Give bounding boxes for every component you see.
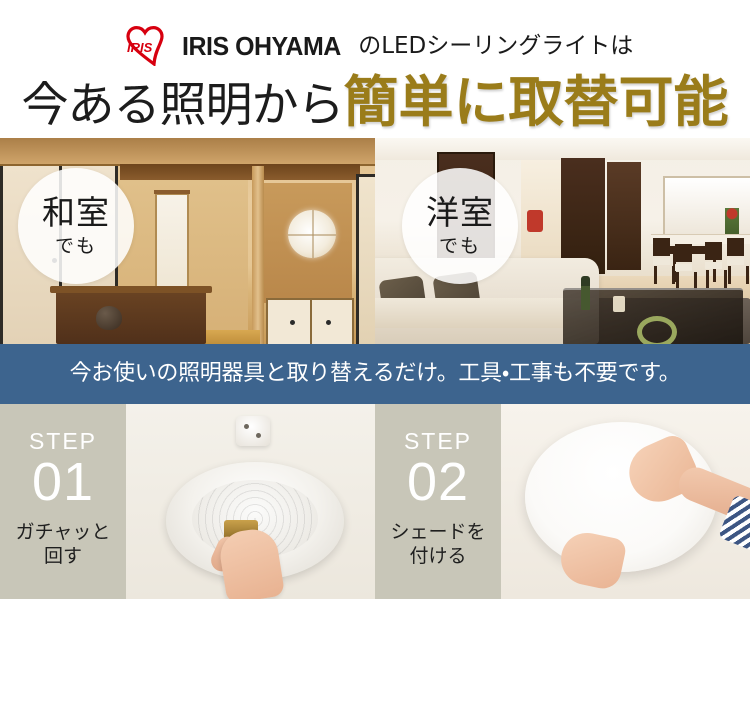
badge-washitsu-sub: でも (55, 237, 97, 256)
step-01-caption-line2: 回す (44, 545, 82, 567)
step-01-caption-line1: ガチャッと (16, 521, 111, 543)
headline: 今ある照明から 簡単に取替可能 (0, 74, 750, 138)
headline-gold-part: 簡単に取替可能 (343, 74, 728, 129)
badge-washitsu-main: 和室 (42, 196, 110, 229)
step-01-caption: ガチャッと 回す (16, 521, 111, 569)
step-label-01: STEP 01 ガチャッと 回す (0, 404, 126, 599)
ceiling-socket-icon (236, 416, 270, 446)
badge-washitsu: 和室 でも (18, 168, 134, 284)
header: IRIS IRIS OHYAMA のLEDシーリングライトは 今ある照明から 簡… (0, 0, 750, 138)
step-label-02: STEP 02 シェードを 付ける (375, 404, 501, 599)
step-02-number: 02 (407, 455, 469, 509)
badge-yoshitsu: 洋室 でも (402, 168, 518, 284)
room-photo-washitsu: 和室 でも (0, 138, 375, 344)
step-02-caption-line1: シェードを (390, 521, 485, 543)
step-02-word: STEP (404, 430, 472, 453)
headline-dark-part: 今ある照明から (21, 82, 343, 129)
step-01-photo (126, 404, 375, 599)
badge-yoshitsu-sub: でも (439, 237, 481, 256)
info-banner-text: 今お使いの照明器具と取り替えるだけ。工具・工事も不要です。 (70, 363, 681, 385)
brand-name: IRIS OHYAMA (182, 33, 341, 59)
step-01-number: 01 (32, 455, 94, 509)
step-02-photo (501, 404, 750, 599)
steps-section: STEP 01 ガチャッと 回す STEP 02 シェードを 付ける (0, 404, 750, 599)
room-photo-section: 和室 でも (0, 138, 750, 344)
step-02-caption: シェードを 付ける (390, 521, 485, 569)
brand-line: IRIS IRIS OHYAMA のLEDシーリングライトは (0, 26, 750, 66)
step-02-caption-line2: 付ける (409, 545, 466, 567)
bottom-whitespace (0, 599, 750, 688)
brand-tagline: のLEDシーリングライトは (358, 35, 633, 58)
svg-text:IRIS: IRIS (127, 40, 153, 55)
info-banner: 今お使いの照明器具と取り替えるだけ。工具・工事も不要です。 (0, 344, 750, 404)
badge-yoshitsu-main: 洋室 (426, 196, 494, 229)
room-photo-yoshitsu: 洋室 でも (375, 138, 750, 344)
step-01-word: STEP (29, 430, 97, 453)
iris-heart-logo-icon: IRIS (117, 26, 175, 66)
